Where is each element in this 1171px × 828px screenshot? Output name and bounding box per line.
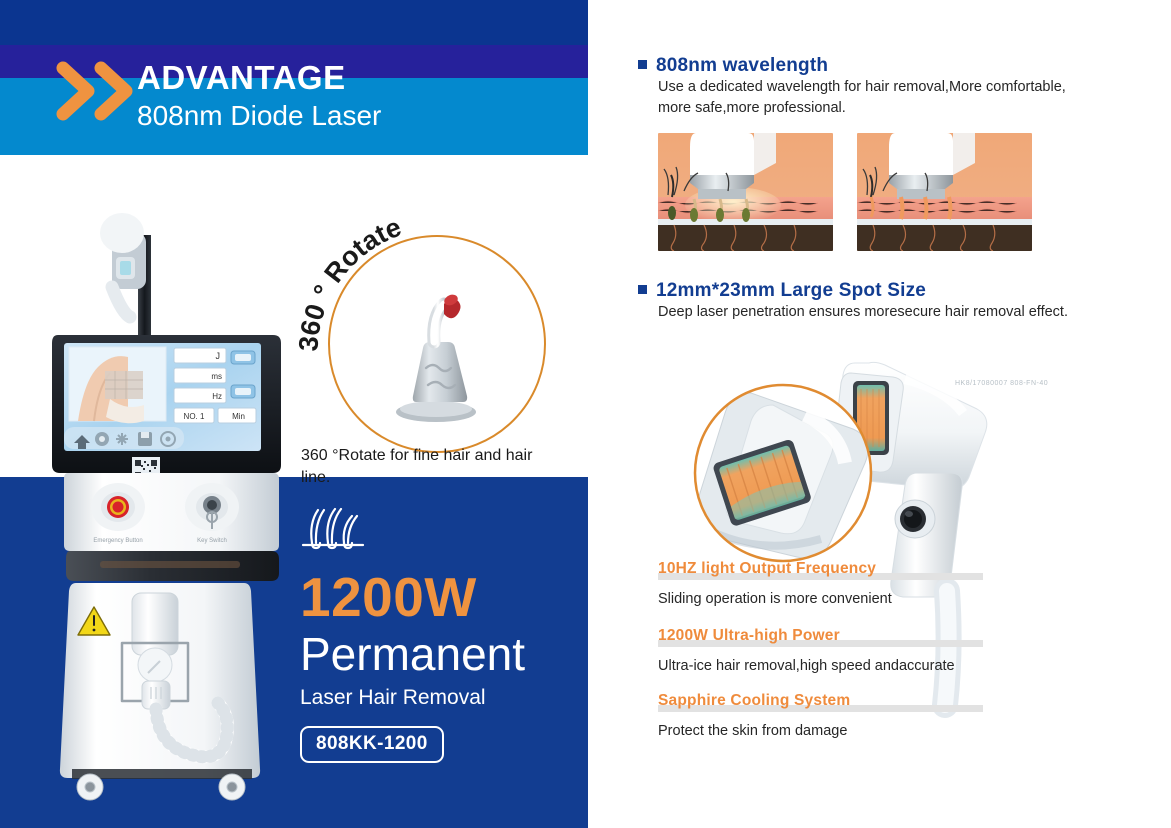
- svg-text:Key Switch: Key Switch: [197, 538, 227, 544]
- header-text: ADVANTAGE 808nm Diode Laser: [137, 60, 381, 134]
- section-808nm: 808nm wavelength Use a dedicated wavelen…: [598, 55, 1171, 119]
- power-value: 1200W: [300, 568, 580, 626]
- svg-text:Hz: Hz: [212, 392, 222, 401]
- left-copy-block: 1200W Permanent Laser Hair Removal 808KK…: [300, 505, 580, 763]
- section-title: 12mm*23mm Large Spot Size: [656, 280, 926, 302]
- section-heading: 12mm*23mm Large Spot Size: [638, 280, 1171, 302]
- feature-title: 10HZ light Output Frequency: [658, 560, 876, 578]
- product-subtitle: Laser Hair Removal: [300, 684, 580, 712]
- svg-text:J: J: [216, 351, 221, 361]
- feature-body: Sliding operation is more convenient: [658, 589, 958, 609]
- skin-cross-section-after: [857, 133, 1032, 251]
- svg-text:HK8/17080007 808-FN-40: HK8/17080007 808-FN-40: [955, 380, 1048, 387]
- left-panel: ADVANTAGE 808nm Diode Laser: [0, 0, 588, 828]
- model-badge: 808KK-1200: [300, 726, 444, 763]
- svg-text:Emergency Button: Emergency Button: [93, 538, 142, 544]
- section-title: 808nm wavelength: [656, 55, 828, 77]
- section-heading: 808nm wavelength: [638, 55, 1171, 77]
- permanent-label: Permanent: [300, 628, 580, 680]
- svg-text:ms: ms: [211, 372, 222, 381]
- svg-text:Min: Min: [232, 412, 245, 421]
- hair-follicles-icon: [300, 505, 366, 551]
- section-body: Use a dedicated wavelength for hair remo…: [658, 77, 1078, 119]
- feature-body: Protect the skin from damage: [658, 721, 958, 741]
- sapphire-tip-zoom-icon: [694, 385, 871, 561]
- section-body: Deep laser penetration ensures moresecur…: [658, 302, 1078, 323]
- rotate-nozzle-photo: [386, 290, 496, 425]
- feature-heading: Sapphire Cooling System: [658, 692, 958, 713]
- rotate-caption: 360 °Rotate for fine hair and hair line.: [301, 445, 563, 489]
- svg-text:NO. 1: NO. 1: [184, 412, 205, 421]
- square-bullet-icon: [638, 285, 647, 294]
- page-title: ADVANTAGE: [137, 60, 381, 96]
- double-chevron-right-icon: [55, 60, 135, 122]
- header-band-navy: [0, 0, 588, 45]
- laser-machine-illustration: J ms Hz NO. 1 Min: [50, 195, 295, 820]
- feature-heading: 10HZ light Output Frequency: [658, 560, 958, 581]
- feature-title: 1200W Ultra-high Power: [658, 627, 840, 645]
- feature-heading: 1200W Ultra-high Power: [658, 627, 958, 648]
- skin-illustration-row: [658, 133, 1098, 251]
- poster-page: ADVANTAGE 808nm Diode Laser: [0, 0, 1171, 828]
- rotate-feature: 360 ° Rotate: [298, 175, 563, 475]
- section-spot-size: 12mm*23mm Large Spot Size Deep laser pen…: [598, 280, 1171, 323]
- page-subtitle: 808nm Diode Laser: [137, 98, 381, 134]
- feature-cooling: Sapphire Cooling System Protect the skin…: [658, 692, 958, 741]
- feature-body: Ultra-ice hair removal,high speed andacc…: [658, 656, 958, 676]
- skin-cross-section-before: [658, 133, 833, 251]
- feature-frequency: 10HZ light Output Frequency Sliding oper…: [658, 560, 958, 609]
- feature-title: Sapphire Cooling System: [658, 692, 850, 710]
- feature-power: 1200W Ultra-high Power Ultra-ice hair re…: [658, 627, 958, 676]
- square-bullet-icon: [638, 60, 647, 69]
